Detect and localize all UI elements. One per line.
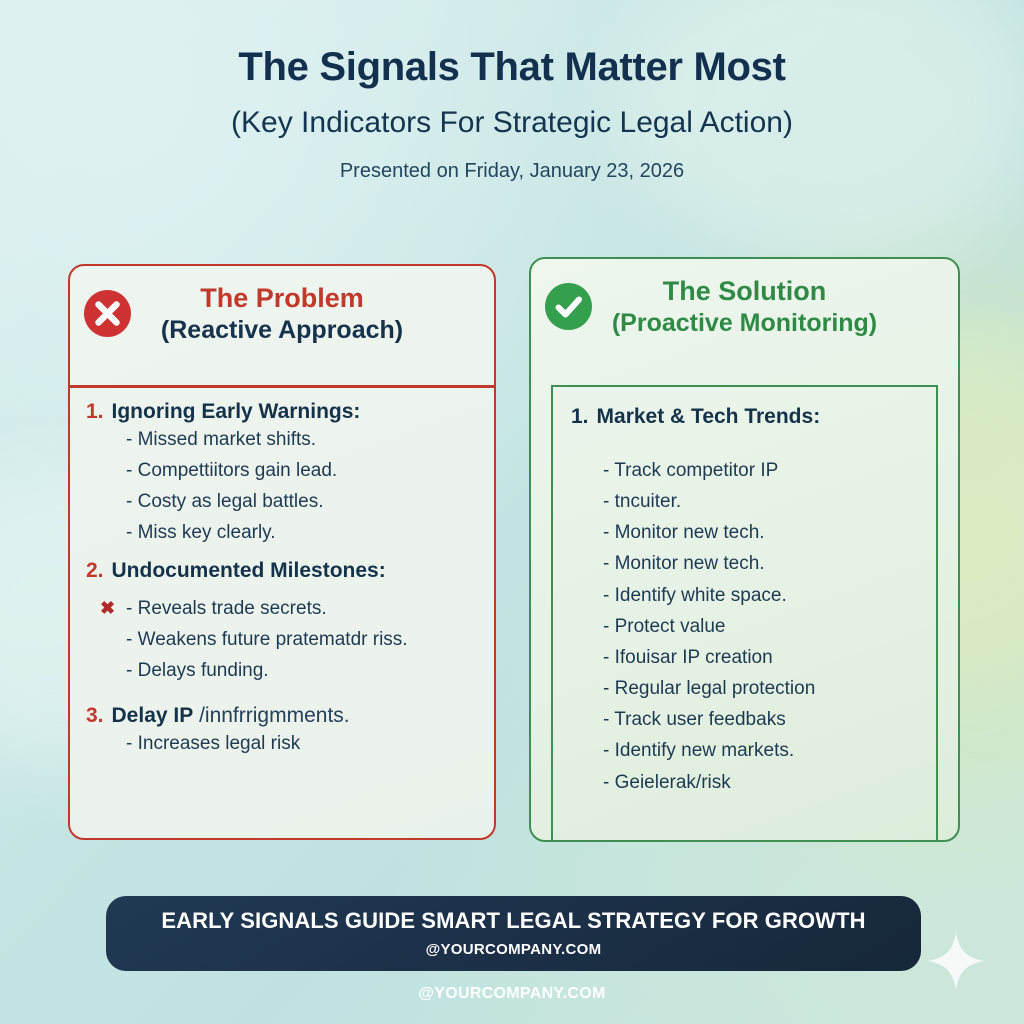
- bullet-text: - Protect value: [603, 616, 726, 637]
- bullet-item: - Miss key clearly.: [86, 517, 478, 548]
- footer-headline: EARLY SIGNALS GUIDE SMART LEGAL STRATEGY…: [106, 908, 921, 934]
- bullet-item: - Identify white space.: [571, 580, 926, 611]
- bullet-item: - Identify new markets.: [571, 735, 926, 766]
- list-item-heading: Undocumented Milestones:: [112, 559, 386, 583]
- bullet-text: - tncuiter.: [603, 491, 681, 512]
- spacer: [571, 429, 926, 455]
- footer-handle: @YOURCOMPANY.COM: [106, 941, 921, 959]
- bullet-text: - Missed market shifts.: [126, 429, 316, 450]
- card-solution-title: The Solution: [531, 275, 958, 308]
- bullet-text: - Track competitor IP: [603, 460, 778, 481]
- poster-header: The Signals That Matter Most (Key Indica…: [0, 44, 1024, 183]
- x-mark-icon: ✖: [100, 594, 115, 624]
- list-item: 1. Market & Tech Trends:: [571, 405, 926, 429]
- list-item-number: 2.: [86, 559, 104, 583]
- bullet-item: - Delays funding.: [86, 655, 478, 686]
- card-solution-body: 1. Market & Tech Trends: - Track competi…: [551, 385, 938, 840]
- bullet-text: - Monitor new tech.: [603, 522, 765, 543]
- list-item-heading: Market & Tech Trends:: [597, 405, 821, 429]
- card-problem-header: The Problem (Reactive Approach): [70, 266, 494, 388]
- card-solution-header: The Solution (Proactive Monitoring): [531, 259, 958, 385]
- list-item-number: 1.: [571, 405, 589, 429]
- bullet-text: - Delays funding.: [126, 660, 269, 681]
- bullet-text: - Monitor new tech.: [603, 553, 765, 574]
- card-solution-heading: The Solution (Proactive Monitoring): [531, 259, 958, 338]
- footer-banner: EARLY SIGNALS GUIDE SMART LEGAL STRATEGY…: [106, 896, 921, 971]
- card-problem-subtitle: (Reactive Approach): [70, 315, 494, 346]
- bullet-item: - Track user feedbaks: [571, 704, 926, 735]
- bullet-text: - Costy as legal battles.: [126, 491, 323, 512]
- bullet-text: - Identify white space.: [603, 585, 787, 606]
- check-circle-icon: [545, 283, 592, 330]
- page-title: The Signals That Matter Most: [0, 44, 1024, 91]
- bullet-text: - Regular legal protection: [603, 678, 815, 699]
- list-item-heading: Delay IP /innfrrigmments.: [112, 704, 350, 728]
- page-subtitle: (Key Indicators For Strategic Legal Acti…: [0, 105, 1024, 141]
- bullet-item: - Monitor new tech.: [571, 517, 926, 548]
- list-item-number: 1.: [86, 400, 104, 424]
- bullet-item: - Ifouisar IP creation: [571, 642, 926, 673]
- list-item: 2. Undocumented Milestones:: [86, 559, 478, 583]
- list-item-heading-light: /innfrrigmments.: [193, 704, 349, 727]
- spacer: [86, 549, 478, 559]
- sparkle-icon: [925, 930, 987, 992]
- bullet-text: - Geielerak/risk: [603, 772, 731, 793]
- list-item-heading: Ignoring Early Warnings:: [112, 400, 361, 424]
- bullet-item: - Monitor new tech.: [571, 548, 926, 579]
- bullet-item: - Geielerak/risk: [571, 767, 926, 798]
- bullet-item: ✖ - Reveals trade secrets.: [86, 593, 478, 624]
- card-problem: The Problem (Reactive Approach) 1. Ignor…: [68, 264, 496, 840]
- bullet-text: - Increases legal risk: [126, 733, 300, 754]
- card-problem-body: 1. Ignoring Early Warnings: - Missed mar…: [70, 388, 494, 759]
- bullet-text: - Compettiitors gain lead.: [126, 460, 337, 481]
- poster-canvas: The Signals That Matter Most (Key Indica…: [0, 0, 1024, 1024]
- bullet-item: - Track competitor IP: [571, 455, 926, 486]
- bullet-item: - Regular legal protection: [571, 673, 926, 704]
- bullet-text: - Track user feedbaks: [603, 709, 786, 730]
- bullet-text: - Weakens future pratematdr riss.: [126, 629, 408, 650]
- spacer: [86, 686, 478, 704]
- bullet-item: - Compettiitors gain lead.: [86, 455, 478, 486]
- footer-outer-handle: @YOURCOMPANY.COM: [0, 985, 1024, 1003]
- bullet-item: - Costy as legal battles.: [86, 486, 478, 517]
- bullet-item: - Increases legal risk: [86, 728, 478, 759]
- card-solution: The Solution (Proactive Monitoring) 1. M…: [529, 257, 960, 842]
- bullet-item: - Missed market shifts.: [86, 424, 478, 455]
- bullet-text: - Ifouisar IP creation: [603, 647, 773, 668]
- bullet-text: - Miss key clearly.: [126, 522, 276, 543]
- card-solution-subtitle: (Proactive Monitoring): [531, 308, 958, 339]
- bullet-item: - Weakens future pratematdr riss.: [86, 624, 478, 655]
- bullet-item: - tncuiter.: [571, 486, 926, 517]
- card-problem-title: The Problem: [70, 282, 494, 315]
- bullet-item: - Protect value: [571, 611, 926, 642]
- bullet-text: - Reveals trade secrets.: [126, 598, 327, 619]
- card-problem-heading: The Problem (Reactive Approach): [70, 266, 494, 345]
- list-item-number: 3.: [86, 704, 104, 728]
- bullet-list: - Track competitor IP - tncuiter. - Moni…: [571, 455, 926, 798]
- list-item: 3. Delay IP /innfrrigmments.: [86, 704, 478, 728]
- x-circle-icon: [84, 290, 131, 337]
- presented-date: Presented on Friday, January 23, 2026: [0, 159, 1024, 183]
- bullet-text: - Identify new markets.: [603, 740, 794, 761]
- bullet-list: ✖ - Reveals trade secrets. - Weakens fut…: [86, 593, 478, 686]
- spacer: [86, 583, 478, 593]
- bullet-list: - Increases legal risk: [86, 728, 478, 759]
- bullet-list: - Missed market shifts. - Compettiitors …: [86, 424, 478, 549]
- list-item: 1. Ignoring Early Warnings:: [86, 400, 478, 424]
